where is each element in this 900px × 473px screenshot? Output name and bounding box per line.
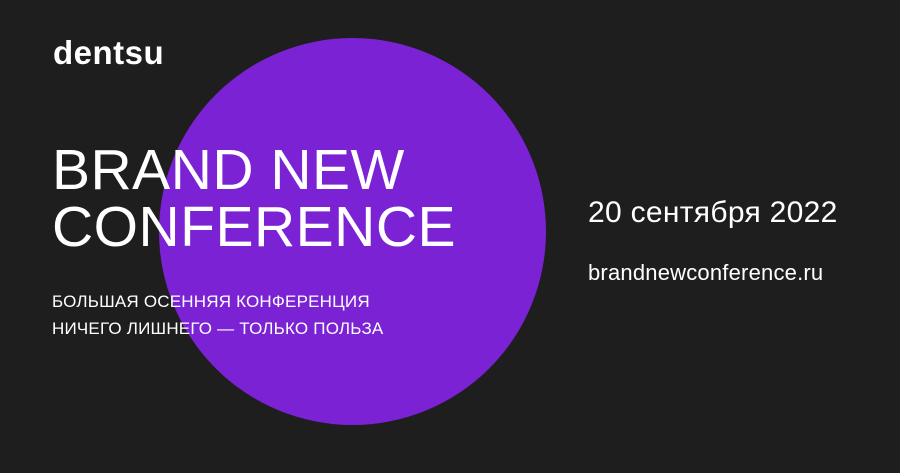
subtitle-block: БОЛЬШАЯ ОСЕННЯЯ КОНФЕРЕНЦИЯ НИЧЕГО ЛИШНЕ… bbox=[52, 288, 383, 342]
subtitle-line-1: БОЛЬШАЯ ОСЕННЯЯ КОНФЕРЕНЦИЯ bbox=[52, 288, 383, 315]
poster-canvas: dentsu BRAND NEW CONFERENCE БОЛЬШАЯ ОСЕН… bbox=[0, 0, 900, 473]
dentsu-logo: dentsu bbox=[53, 36, 164, 69]
subtitle-line-2: НИЧЕГО ЛИШНЕГО — ТОЛЬКО ПОЛЬЗА bbox=[52, 315, 383, 342]
headline-line-2: CONFERENCE bbox=[52, 199, 456, 256]
event-info-block: 20 сентября 2022 brandnewconference.ru bbox=[588, 196, 838, 286]
headline-block: BRAND NEW CONFERENCE bbox=[52, 142, 456, 256]
event-date: 20 сентября 2022 bbox=[588, 196, 838, 230]
event-website-link[interactable]: brandnewconference.ru bbox=[588, 260, 838, 286]
headline-line-1: BRAND NEW bbox=[52, 142, 456, 199]
